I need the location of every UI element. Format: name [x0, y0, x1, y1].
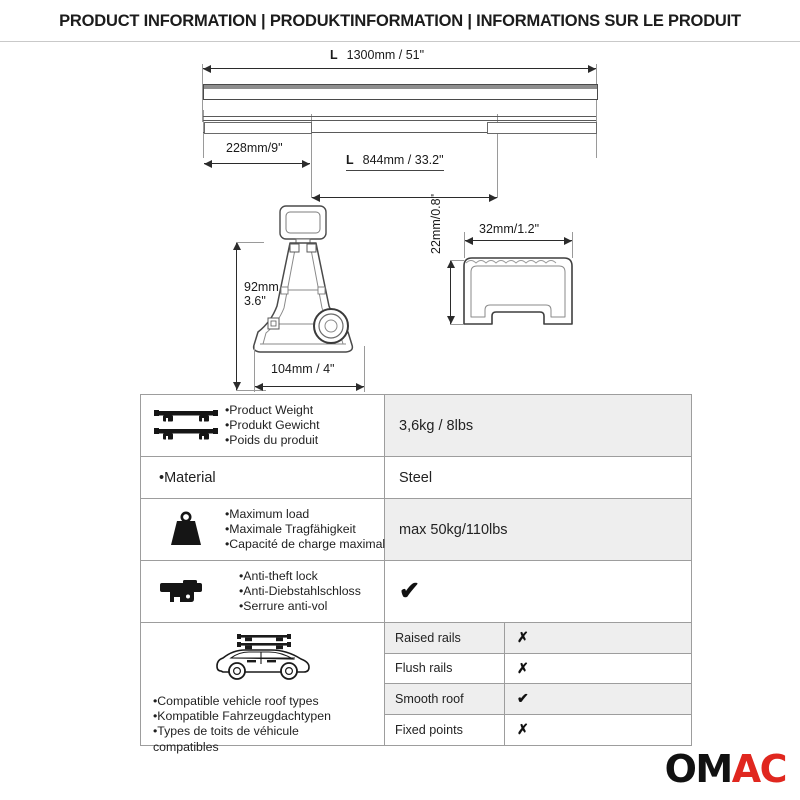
label-de: •Anti-Diebstahlschloss	[239, 584, 378, 599]
underside-slot-right	[487, 122, 597, 134]
car-with-rack-icon	[209, 631, 317, 688]
label-en: •Anti-theft lock	[239, 569, 378, 584]
logo-text-ac: AC	[732, 747, 786, 791]
crossbar-side-view	[203, 84, 598, 100]
label-fr: •Capacité de charge maximale	[225, 537, 392, 552]
underside-line-2	[203, 120, 596, 121]
material-label: •Material	[147, 470, 216, 486]
span-length-dimline	[312, 197, 497, 198]
page-title: PRODUCT INFORMATION | PRODUKTINFORMATION…	[59, 12, 741, 31]
label-de: •Kompatible Fahrzeugdachtypen	[153, 709, 331, 724]
header-divider	[0, 41, 800, 42]
anti-theft-value: ✔	[385, 561, 691, 622]
label-en: •Maximum load	[225, 507, 392, 522]
offset-length-label: 228mm/9"	[226, 141, 283, 155]
profile-height-label: 22mm/0.8"	[429, 194, 443, 254]
label-fr-cont: compatibles	[153, 740, 331, 755]
anti-theft-labels: •Anti-theft lock •Anti-Diebstahlschloss …	[225, 569, 378, 615]
foot-width-label: 104mm / 4"	[271, 362, 335, 376]
offset-length-dimline	[204, 163, 310, 164]
material-cell: •Material	[141, 457, 385, 498]
profile-width-dimline	[465, 240, 572, 241]
header: PRODUCT INFORMATION | PRODUKTINFORMATION…	[0, 0, 800, 42]
ext-line-span-left-lower	[311, 176, 312, 198]
compatibility-labels: •Compatible vehicle roof types •Kompatib…	[141, 688, 331, 755]
option-mark: ✗	[505, 654, 691, 684]
lock-icon	[147, 575, 225, 609]
check-mark: ✔	[399, 579, 420, 604]
span-length-value: 844mm / 33.2"	[363, 153, 444, 167]
label-en: •Product Weight	[225, 403, 378, 418]
option-mark: ✗	[505, 623, 691, 653]
bar-cross-section	[458, 252, 578, 340]
compat-option-flush-rails: Flush rails ✗	[385, 654, 691, 685]
table-row: •Product Weight •Produkt Gewicht •Poids …	[141, 395, 691, 457]
underside-slot-left	[204, 122, 312, 134]
option-label: Smooth roof	[385, 684, 505, 714]
compat-option-smooth-roof: Smooth roof ✔	[385, 684, 691, 715]
ext-line-underside-right	[596, 110, 597, 158]
label-fr: •Poids du produit	[225, 433, 378, 448]
table-row: •Maximum load •Maximale Tragfähigkeit •C…	[141, 499, 691, 561]
table-row: •Anti-theft lock •Anti-Diebstahlschloss …	[141, 561, 691, 623]
logo-text-om: OM	[665, 747, 732, 791]
ext-line-span-right-lower	[497, 176, 498, 198]
crossbars-icon	[147, 406, 225, 446]
product-weight-value: 3,6kg / 8lbs	[385, 395, 691, 456]
overall-length-prefix: L	[330, 48, 338, 62]
label-de: •Maximale Tragfähigkeit	[225, 522, 392, 537]
foot-height-mm: 92mm	[244, 280, 279, 294]
table-row: •Compatible vehicle roof types •Kompatib…	[141, 623, 691, 745]
ext-profile-h-bottom	[450, 324, 464, 325]
ext-foot-top	[236, 242, 264, 243]
option-label: Flush rails	[385, 654, 505, 684]
foot-width-dimline	[255, 386, 364, 387]
option-mark: ✗	[505, 715, 691, 746]
label-de: •Produkt Gewicht	[225, 418, 378, 433]
compat-option-raised-rails: Raised rails ✗	[385, 623, 691, 654]
product-weight-labels: •Product Weight •Produkt Gewicht •Poids …	[225, 403, 378, 449]
omac-logo: OMAC	[665, 750, 786, 788]
foot-height-in: 3.6"	[244, 294, 279, 308]
max-load-cell: •Maximum load •Maximale Tragfähigkeit •C…	[141, 499, 385, 560]
compatibility-options: Raised rails ✗ Flush rails ✗ Smooth roof…	[385, 623, 691, 745]
crossbar-top-cap	[204, 85, 597, 89]
profile-height-dimline	[450, 260, 451, 324]
label-en: •Compatible vehicle roof types	[153, 694, 331, 709]
span-length-prefix: L	[346, 153, 354, 167]
foot-height-dimline	[236, 242, 237, 390]
overall-length-dimline	[203, 68, 596, 69]
ext-foot-width-right	[364, 346, 365, 392]
product-information-sheet: PRODUCT INFORMATION | PRODUKTINFORMATION…	[0, 0, 800, 800]
option-label: Fixed points	[385, 715, 505, 746]
ext-profile-right	[572, 232, 573, 258]
material-value: Steel	[385, 457, 691, 498]
table-row: •Material Steel	[141, 457, 691, 499]
label-fr: •Types de toits de véhicule	[153, 724, 331, 739]
span-length-label: L844mm / 33.2"	[346, 153, 444, 171]
label-fr: •Serrure anti-vol	[239, 599, 378, 614]
option-label: Raised rails	[385, 623, 505, 653]
ext-profile-h-top	[450, 260, 464, 261]
specification-table: •Product Weight •Produkt Gewicht •Poids …	[140, 394, 692, 746]
weight-icon	[147, 509, 225, 551]
compatibility-cell: •Compatible vehicle roof types •Kompatib…	[141, 623, 385, 745]
max-load-labels: •Maximum load •Maximale Tragfähigkeit •C…	[225, 507, 392, 553]
overall-length-label: L1300mm / 51"	[330, 48, 424, 62]
underside-line-top	[203, 116, 596, 117]
anti-theft-cell: •Anti-theft lock •Anti-Diebstahlschloss …	[141, 561, 385, 622]
ext-line-underside-left	[203, 110, 204, 158]
overall-length-value: 1300mm / 51"	[347, 48, 424, 62]
product-weight-cell: •Product Weight •Produkt Gewicht •Poids …	[141, 395, 385, 456]
profile-width-label: 32mm/1.2"	[479, 222, 539, 236]
foot-height-label: 92mm 3.6"	[244, 280, 279, 308]
max-load-value: max 50kg/110lbs	[385, 499, 691, 560]
option-mark: ✔	[505, 684, 691, 714]
technical-drawing: L1300mm / 51" 228mm/9" L844mm / 33.2"	[0, 44, 800, 388]
compat-option-fixed-points: Fixed points ✗	[385, 715, 691, 746]
